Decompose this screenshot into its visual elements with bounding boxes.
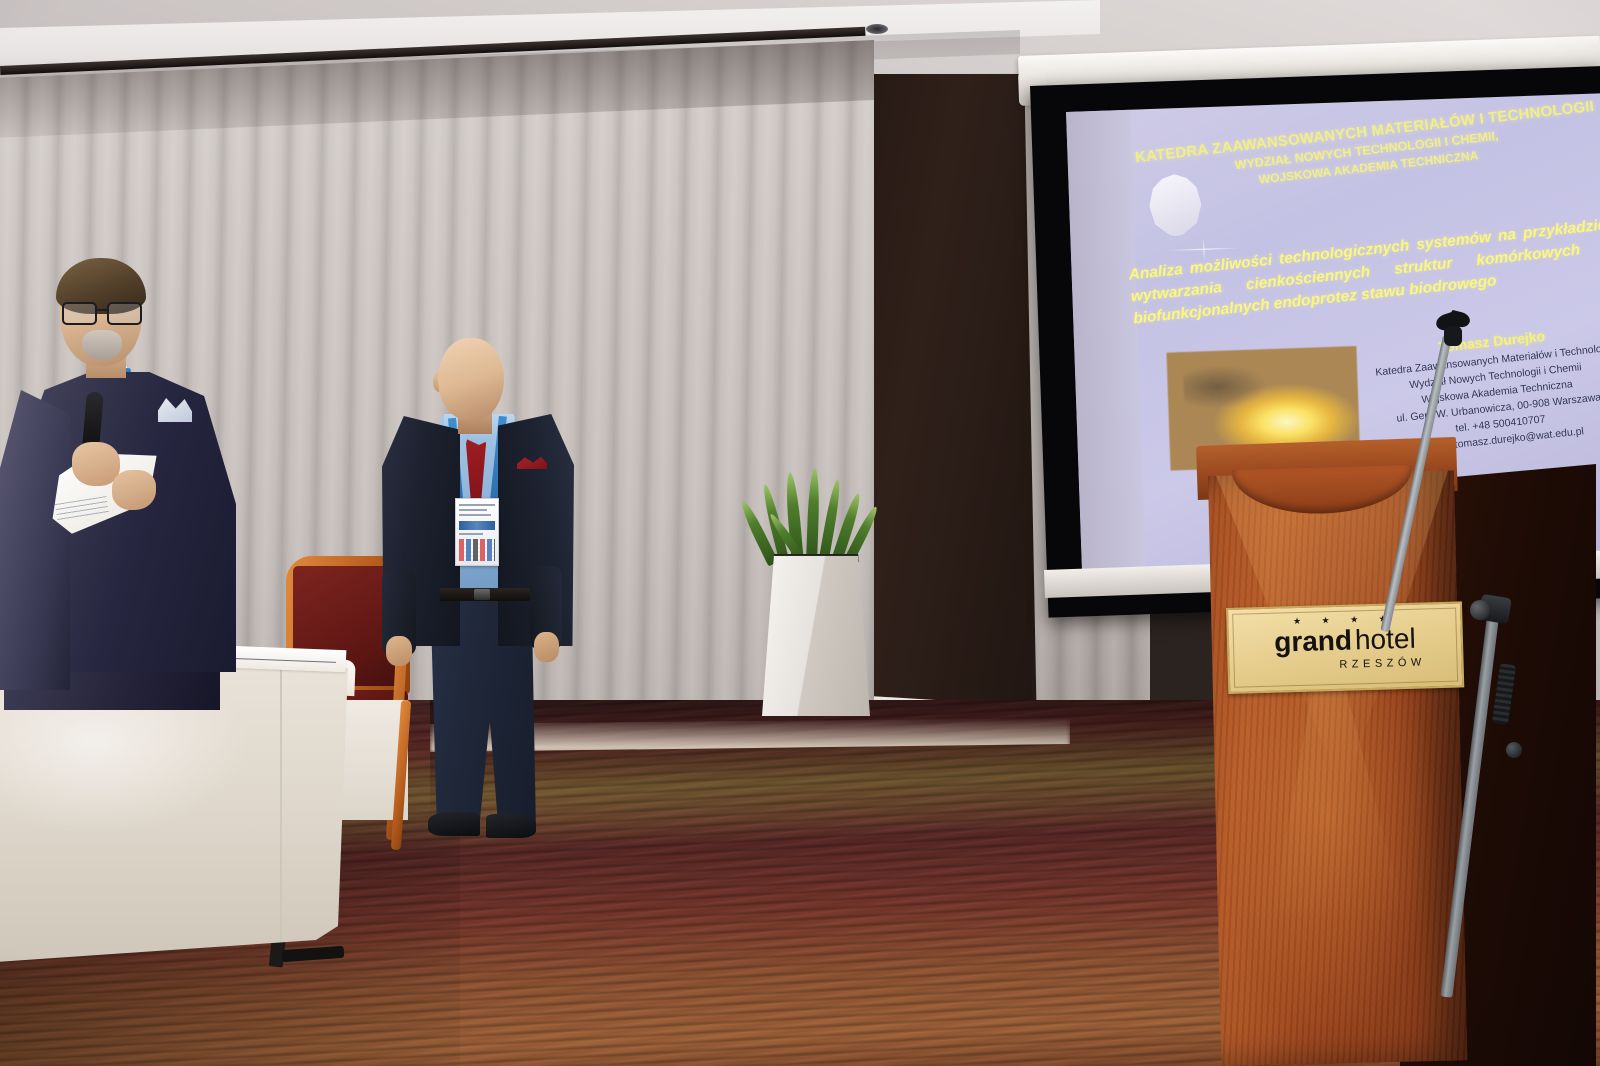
- head-table-skirt: [0, 668, 348, 968]
- recessed-ceiling-light: [866, 24, 888, 34]
- presenter-hand-left: [386, 636, 412, 666]
- conference-room-photo: KATEDRA ZAAWANSOWANYCH MATERIAŁÓW I TECH…: [0, 0, 1600, 1066]
- speaker-hand-on-papers: [112, 470, 156, 510]
- podium-front-panel: [1208, 470, 1467, 1065]
- speaker-goatee: [82, 330, 122, 360]
- slide-header: KATEDRA ZAAWANSOWANYCH MATERIAŁÓW I TECH…: [1130, 97, 1600, 200]
- slide-photo-highlight: [1183, 363, 1268, 410]
- presenter-belt-buckle: [474, 589, 490, 600]
- speaker-jacket-left-shoulder: [0, 390, 70, 690]
- badge-sponsor-logos: [459, 539, 495, 561]
- presenter-shoe-left: [428, 812, 480, 836]
- conference-badge: [455, 498, 499, 566]
- presenter-shoe-right: [486, 814, 536, 838]
- presenter-hand-right: [534, 632, 559, 662]
- mic-stand-adjust-knob[interactable]: [1470, 600, 1490, 620]
- table-skirt-fold: [280, 668, 282, 948]
- microphone-clip[interactable]: [1436, 312, 1470, 346]
- white-planter: [762, 556, 870, 716]
- snake-plant-foliage: [762, 468, 872, 564]
- mic-stand-lower-knob[interactable]: [1506, 742, 1522, 758]
- eyeglasses: [62, 302, 140, 321]
- hotel-plaque: ★ ★ ★ ★ grandhotel RZESZÓW: [1226, 601, 1464, 694]
- plaque-brand-grand: grand: [1274, 625, 1353, 658]
- presenter-head: [438, 338, 504, 420]
